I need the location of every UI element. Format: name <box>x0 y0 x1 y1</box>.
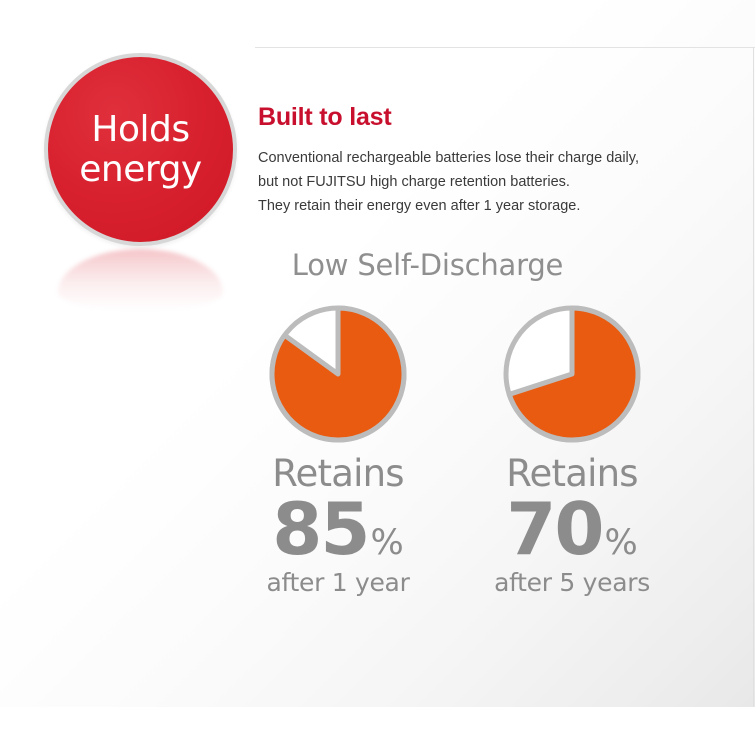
percent-value-1: 85 <box>272 492 368 566</box>
percent-sign-1: % <box>370 523 403 563</box>
duration-caption-1: after 1 year <box>233 568 443 598</box>
percent-row-1: 85 % <box>233 492 443 566</box>
badge-circle: Holds energy <box>44 53 237 246</box>
panel-bottom-spacer <box>0 707 755 755</box>
duration-caption-2: after 5 years <box>467 568 677 598</box>
body-copy: Conventional rechargeable batteries lose… <box>258 146 738 218</box>
pie-chart-block-5-years: Retains 70 % after 5 years <box>467 302 677 598</box>
section-title: Low Self-Discharge <box>0 248 755 282</box>
badge-line-2: energy <box>79 150 201 190</box>
panel-right-divider <box>753 47 754 707</box>
pie-chart-block-1-year: Retains 85 % after 1 year <box>233 302 443 598</box>
page-title: Built to last <box>258 103 392 132</box>
pie-chart-70-percent <box>500 302 644 446</box>
percent-value-2: 70 <box>506 492 602 566</box>
panel-top-divider <box>255 47 755 48</box>
percent-row-2: 70 % <box>467 492 677 566</box>
percent-sign-2: % <box>604 523 637 563</box>
body-copy-line-1: Conventional rechargeable batteries lose… <box>258 146 738 170</box>
body-copy-line-2: but not FUJITSU high charge retention ba… <box>258 170 738 194</box>
badge-line-1: Holds <box>91 110 189 150</box>
body-copy-line-3: They retain their energy even after 1 ye… <box>258 194 738 218</box>
pie-chart-85-percent <box>266 302 410 446</box>
